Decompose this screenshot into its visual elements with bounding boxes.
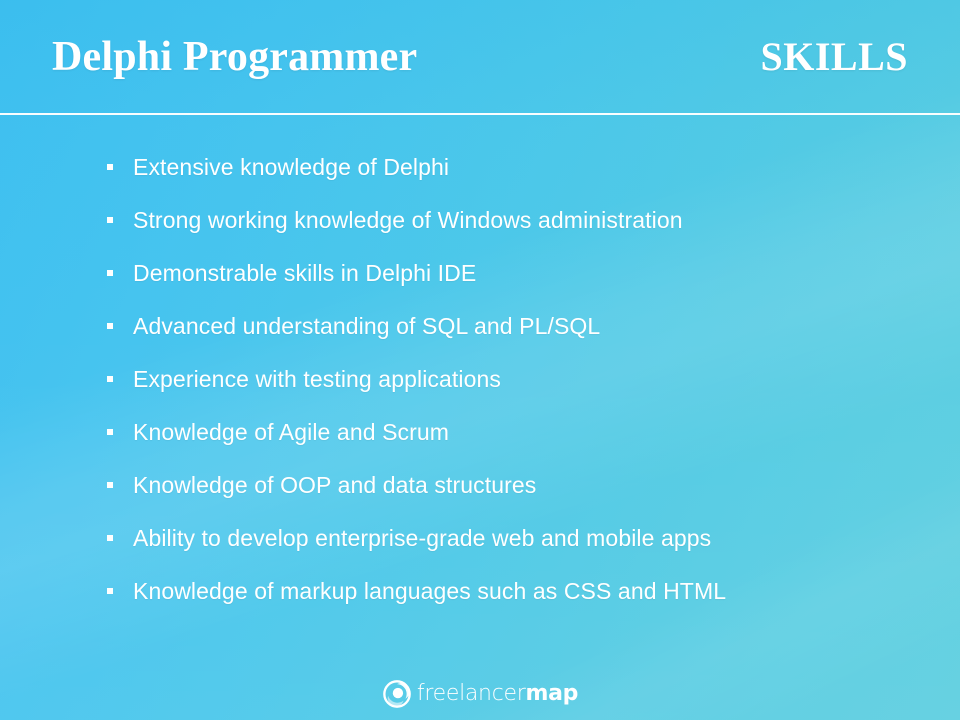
square-bullet-icon xyxy=(107,535,113,541)
freelancermap-logo: freelancermap xyxy=(382,679,578,709)
square-bullet-icon xyxy=(107,270,113,276)
slide-header: Delphi Programmer SKILLS xyxy=(0,0,960,114)
list-item-label: Advanced understanding of SQL and PL/SQL xyxy=(133,311,600,341)
list-item: Knowledge of markup languages such as CS… xyxy=(0,576,960,629)
list-item-label: Knowledge of markup languages such as CS… xyxy=(133,576,726,606)
list-item-label: Knowledge of Agile and Scrum xyxy=(133,417,449,447)
square-bullet-icon xyxy=(107,376,113,382)
square-bullet-icon xyxy=(107,217,113,223)
square-bullet-icon xyxy=(107,588,113,594)
list-item: Knowledge of Agile and Scrum xyxy=(0,417,960,470)
slide-canvas: Delphi Programmer SKILLS Extensive knowl… xyxy=(0,0,960,720)
skills-list: Extensive knowledge of Delphi Strong wor… xyxy=(0,152,960,629)
list-item-label: Ability to develop enterprise-grade web … xyxy=(133,523,711,553)
brand-name-light: freelancer xyxy=(417,681,526,706)
list-item: Experience with testing applications xyxy=(0,364,960,417)
list-item-label: Demonstrable skills in Delphi IDE xyxy=(133,258,476,288)
slide-content: Delphi Programmer SKILLS Extensive knowl… xyxy=(0,0,960,720)
list-item: Extensive knowledge of Delphi xyxy=(0,152,960,205)
square-bullet-icon xyxy=(107,323,113,329)
header-divider-rule xyxy=(0,113,960,115)
list-item: Strong working knowledge of Windows admi… xyxy=(0,205,960,258)
square-bullet-icon xyxy=(107,482,113,488)
square-bullet-icon xyxy=(107,164,113,170)
square-bullet-icon xyxy=(107,429,113,435)
brand-name-bold: map xyxy=(525,681,578,706)
list-item-label: Extensive knowledge of Delphi xyxy=(133,152,449,182)
freelancermap-aperture-icon xyxy=(382,679,412,709)
list-item-label: Experience with testing applications xyxy=(133,364,501,394)
slide-footer: freelancermap xyxy=(0,668,960,720)
list-item: Advanced understanding of SQL and PL/SQL xyxy=(0,311,960,364)
list-item: Demonstrable skills in Delphi IDE xyxy=(0,258,960,311)
list-item: Ability to develop enterprise-grade web … xyxy=(0,523,960,576)
list-item-label: Knowledge of OOP and data structures xyxy=(133,470,536,500)
list-item-label: Strong working knowledge of Windows admi… xyxy=(133,205,683,235)
list-item: Knowledge of OOP and data structures xyxy=(0,470,960,523)
brand-wordmark: freelancermap xyxy=(417,683,578,705)
section-title: SKILLS xyxy=(760,37,908,77)
job-title: Delphi Programmer xyxy=(52,36,417,78)
